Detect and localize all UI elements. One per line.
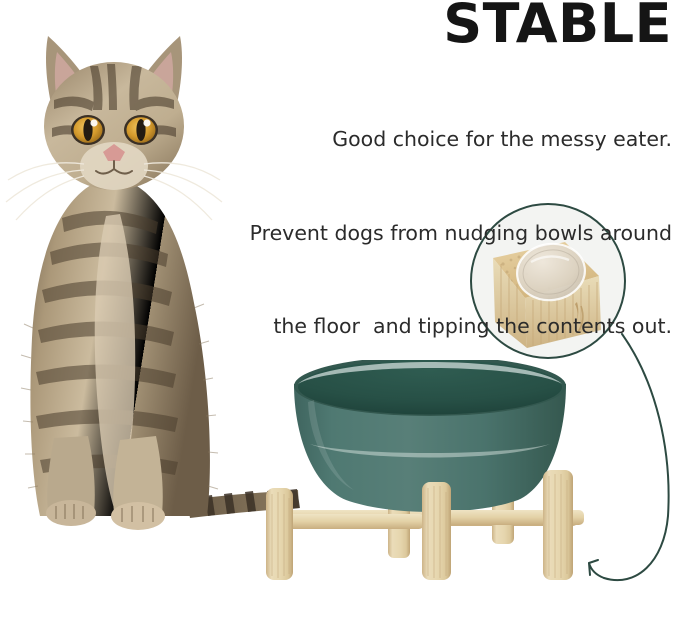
stand-leg-front-right xyxy=(543,470,573,580)
stand-leg-front-center xyxy=(422,482,451,580)
stand-leg-front-left xyxy=(266,488,293,580)
subcopy-line-1: Good choice for the messy eater. xyxy=(220,124,672,155)
page-title: STABLE xyxy=(300,0,672,53)
subcopy-block: Good choice for the messy eater. Prevent… xyxy=(220,62,672,405)
subcopy-line-2: Prevent dogs from nudging bowls around xyxy=(220,218,672,249)
subcopy-line-3: the floor and tipping the contents out. xyxy=(220,311,672,342)
marketing-image-canvas: STABLE Good choice for the messy eater. … xyxy=(0,0,679,632)
